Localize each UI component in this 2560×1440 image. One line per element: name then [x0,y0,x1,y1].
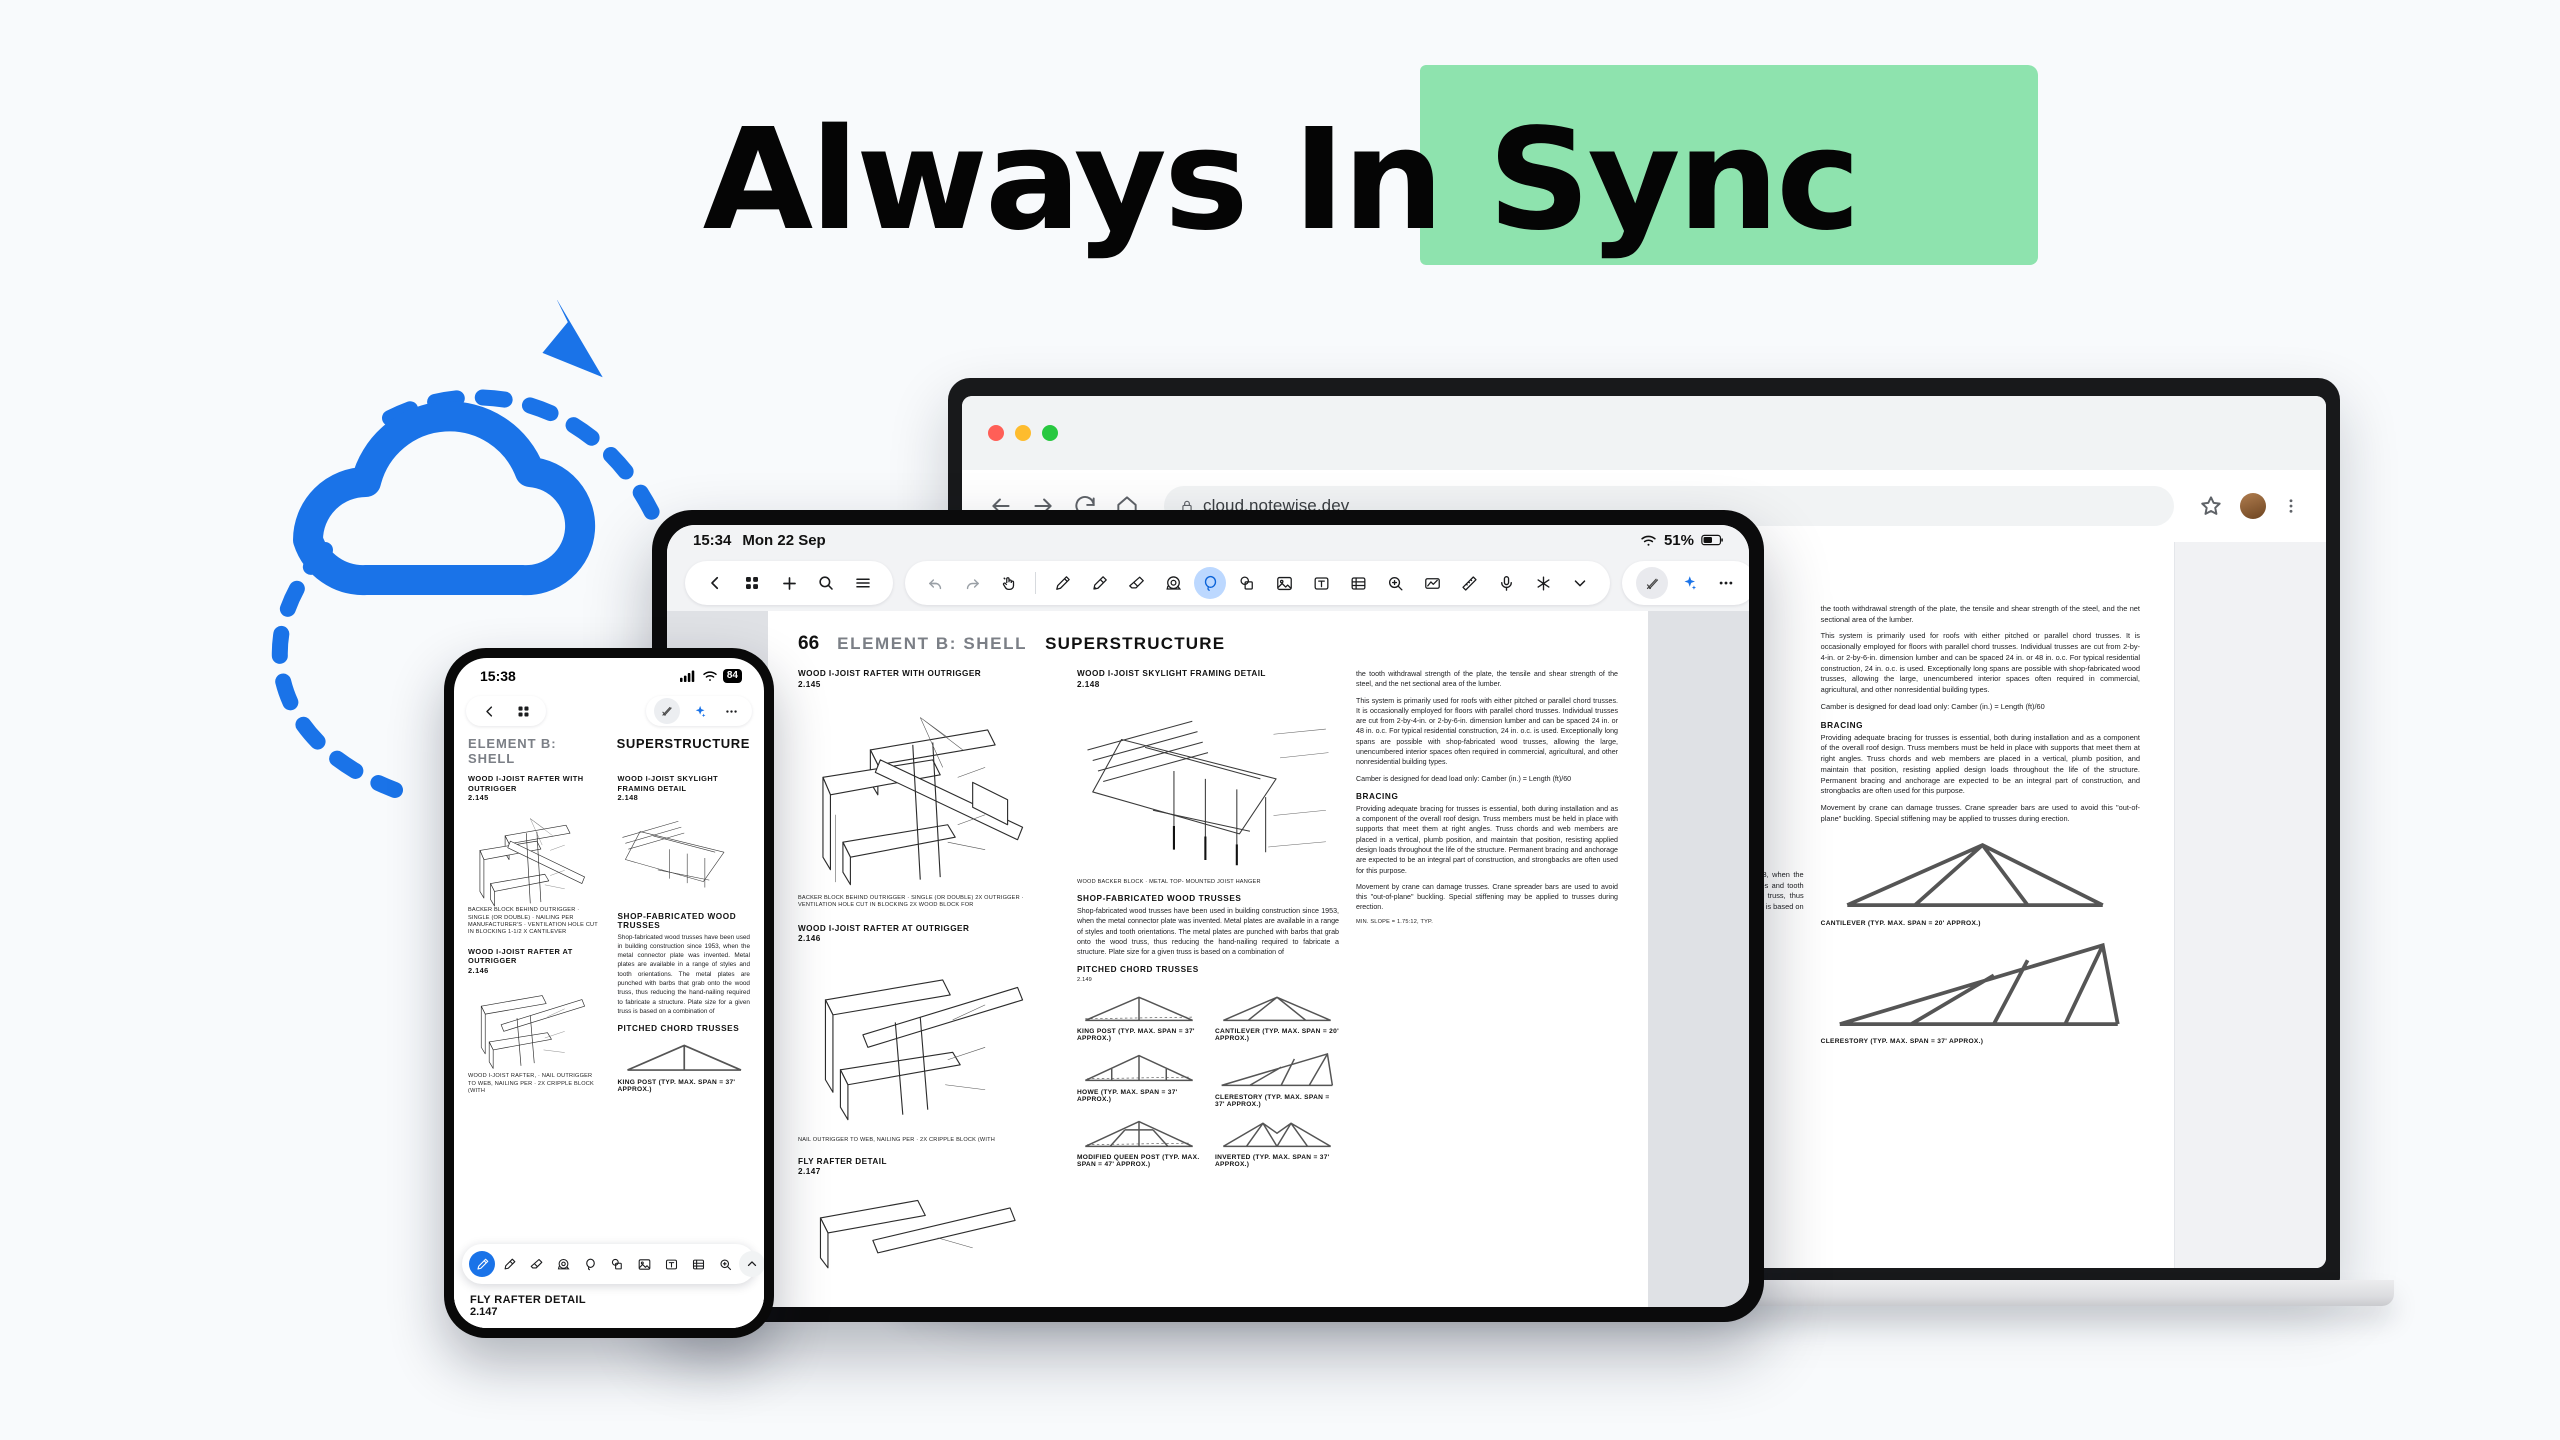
chevron-left-icon [482,704,497,719]
truss-caption: KING POST (TYP. MAX. SPAN = 37' APPROX.) [618,1079,751,1093]
battery-icon [1701,534,1723,546]
snap-star-icon [1534,574,1553,593]
phone-tool-toolbar [462,1244,756,1284]
zoom-in-icon [718,1257,733,1272]
document-page-tablet: 66 ELEMENT B: SHELL SUPERSTRUCTURE WOOD … [768,611,1648,1307]
doc-column-3: the tooth withdrawal strength of the pla… [1356,669,1618,1270]
microphone-icon [1497,574,1516,593]
ai-assist-button[interactable] [1673,567,1705,599]
truss-diagram-cantilever [1215,989,1339,1025]
body-paragraph: Shop-fabricated wood trusses have been u… [618,933,751,1017]
scribble-icon [660,704,674,718]
text-box-icon [1312,574,1331,593]
truss-caption: HOWE (TYP. MAX. SPAN = 37' APPROX.) [1077,1089,1201,1103]
truss-diagram-queen-post [1077,1115,1201,1151]
lasso-tool-button[interactable] [577,1251,603,1277]
shapes-icon [610,1257,625,1272]
pen-tool-button[interactable] [469,1251,495,1277]
figure-title: WOOD I-JOIST SKYLIGHT FRAMING DETAIL [1077,669,1339,680]
highlighter-tool-button[interactable] [1083,567,1115,599]
table-icon [1349,574,1368,593]
window-minimize-button[interactable] [1015,425,1031,441]
body-heading: BRACING [1821,721,2140,730]
eraser-icon [529,1257,544,1272]
figure-drawing-skylight-framing [1077,695,1339,878]
ellipsis-icon [1717,574,1735,592]
figure-number: 2.145 [468,793,601,803]
expand-toolbar-button[interactable] [739,1251,764,1277]
pen-icon [475,1257,490,1272]
page-title: Always In Sync [702,111,1857,251]
pen-icon [1053,574,1072,593]
body-paragraph: Providing adequate bracing for trusses i… [1356,804,1618,876]
document-subsection: SUPERSTRUCTURE [1045,634,1225,654]
document-subsection: SUPERSTRUCTURE [617,736,750,751]
table-tool-button[interactable] [1342,567,1374,599]
eraser-tool-button[interactable] [1120,567,1152,599]
search-icon [817,574,835,592]
shape-tool-button[interactable] [604,1251,630,1277]
zoom-tool-button[interactable] [1379,567,1411,599]
table-tool-button[interactable] [685,1251,711,1277]
phone-screen: 15:38 84 ELEMENT B: SHELL [454,658,764,1328]
figure-number: 2.147 [798,1167,1060,1178]
sparkle-icon [1680,574,1698,592]
plus-icon [780,574,799,593]
tablet-status-bar: 15:34 Mon 22 Sep 51% [667,525,1749,555]
phone-nav-left-pill [466,696,546,726]
tablet-tools-pill [905,561,1610,605]
tape-icon [556,1257,571,1272]
body-heading: SHOP-FABRICATED WOOD TRUSSES [1077,894,1339,903]
figure-labels: WOOD I-JOIST RAFTER, · NAIL OUTRIGGER TO… [468,1073,601,1095]
outline-button[interactable] [847,567,879,599]
figure-number: 2.148 [1077,680,1339,691]
tablet-device: 15:34 Mon 22 Sep 51% [652,510,1764,1322]
figure-labels: WOOD BACKER BLOCK · METAL TOP- MOUNTED J… [1077,879,1339,886]
truss-caption: CANTILEVER (TYP. MAX. SPAN = 20' APPROX.… [1821,920,2140,927]
body-paragraph: Movement by crane can damage trusses. Cr… [1821,803,2140,824]
hand-icon [1000,574,1018,592]
truss-caption: CANTILEVER (TYP. MAX. SPAN = 20' APPROX.… [1215,1028,1339,1042]
tablet-actions-pill [1622,561,1749,605]
truss-caption: MODIFIED QUEEN POST (TYP. MAX. SPAN = 47… [1077,1154,1201,1168]
wifi-icon [702,670,718,682]
back-button[interactable] [699,567,731,599]
truss-caption: KING POST (TYP. MAX. SPAN = 37' APPROX.) [1077,1028,1201,1042]
redo-icon [964,575,981,592]
zoom-tool-button[interactable] [712,1251,738,1277]
tape-tool-button[interactable] [550,1251,576,1277]
figure-labels: NAIL OUTRIGGER TO WEB, NAILING PER · 2X … [798,1137,1060,1144]
chevron-up-icon [745,1257,759,1271]
highlighter-icon [1090,574,1109,593]
table-icon [691,1257,706,1272]
tablet-toolbar-row [667,555,1749,611]
undo-icon [927,575,944,592]
search-button[interactable] [810,567,842,599]
eraser-tool-button[interactable] [523,1251,549,1277]
body-heading: BRACING [1356,792,1618,801]
body-paragraph: This system is primarily used for roofs … [1821,631,2140,695]
audio-record-button[interactable] [1490,567,1522,599]
list-icon [854,574,872,592]
headline-banner: Always In Sync [0,86,2560,276]
figure-title: WOOD I-JOIST RAFTER AT OUTRIGGER [468,947,601,966]
truss-diagram-cantilever [1821,830,2140,916]
figure-drawing-rafter-outrigger [798,695,1060,895]
figure-number: 2.146 [798,934,1060,945]
body-heading: PITCHED CHORD TRUSSES [618,1024,751,1033]
truss-caption: CLERESTORY (TYP. MAX. SPAN = 37' APPROX.… [1215,1094,1339,1108]
image-icon [1275,574,1294,593]
truss-diagram-clerestory [1215,1049,1339,1090]
shapes-icon [1238,574,1257,593]
doc-column-1: WOOD I-JOIST RAFTER WITH OUTRIGGER2.145 [468,774,601,1100]
ruler-tool-button[interactable] [1453,567,1485,599]
shape-tool-button[interactable] [1231,567,1263,599]
toolbar-divider [1035,572,1036,594]
document-header: 66 ELEMENT B: SHELL SUPERSTRUCTURE [798,633,1618,655]
highlighter-icon [502,1257,517,1272]
text-box-icon [664,1257,679,1272]
body-paragraph: Movement by crane can damage trusses. Cr… [1356,882,1618,913]
document-section: ELEMENT B: SHELL [468,736,607,766]
document-section: ELEMENT B: SHELL [837,634,1027,654]
eraser-icon [1127,574,1146,593]
phone-nav-row [454,690,764,732]
truss-section-number: 2.149 [1077,977,1339,984]
figure-title: WOOD I-JOIST RAFTER WITH OUTRIGGER [468,774,601,793]
figure-labels: BACKER BLOCK BEHIND OUTRIGGER · SINGLE (… [798,895,1060,910]
figure-drawing-fly-rafter [798,1183,1060,1270]
figure-number: 2.145 [798,680,1060,691]
chevron-down-icon [1571,574,1589,592]
figure-title: FLY RAFTER DETAIL [470,1294,748,1306]
image-tool-button[interactable] [1268,567,1300,599]
body-paragraph: This system is primarily used for roofs … [1356,696,1618,768]
zoom-in-icon [1386,574,1405,593]
avatar[interactable] [2240,493,2266,519]
wifi-icon [1640,534,1657,547]
body-paragraph: Shop-fabricated wood trusses have been u… [1077,906,1339,957]
more-options-button[interactable] [1710,567,1742,599]
body-heading: SHOP-FABRICATED WOOD TRUSSES [618,912,751,930]
body-paragraph: the tooth withdrawal strength of the pla… [1356,669,1618,690]
graph-tool-button[interactable] [1416,567,1448,599]
lasso-icon [1201,574,1220,593]
truss-diagram-howe [1077,1049,1201,1085]
grid-view-button[interactable] [510,698,536,724]
tablet-nav-pill [685,561,893,605]
tape-tool-button[interactable] [1157,567,1189,599]
phone-status-bar: 15:38 84 [454,658,764,690]
slope-note: MIN. SLOPE = 1.75:12, TYP. [1356,919,1618,926]
phone-document-footer: FLY RAFTER DETAIL 2.147 [454,1294,764,1328]
figure-drawing-skylight-framing [618,808,751,904]
figure-title: FLY RAFTER DETAIL [798,1157,1060,1168]
truss-diagram-clerestory [1821,934,2140,1035]
doc-column-2: WOOD I-JOIST SKYLIGHT FRAMING DETAIL2.14… [618,774,751,1100]
doc-column-1: WOOD I-JOIST RAFTER WITH OUTRIGGER2.145 [798,669,1060,1270]
lasso-tool-button[interactable] [1194,567,1226,599]
body-heading: PITCHED CHORD TRUSSES [1077,965,1339,974]
tablet-document-viewport[interactable]: 66 ELEMENT B: SHELL SUPERSTRUCTURE WOOD … [667,611,1749,1307]
truss-diagram-inverted [1215,1115,1339,1151]
scribble-icon [1644,575,1661,592]
truss-diagram-king-post [1077,989,1201,1025]
figure-title: WOOD I-JOIST RAFTER AT OUTRIGGER [798,924,1060,935]
document-page-phone[interactable]: ELEMENT B: SHELL SUPERSTRUCTURE WOOD I-J… [454,732,764,1328]
add-page-button[interactable] [773,567,805,599]
pen-tool-button[interactable] [1046,567,1078,599]
hand-tool-button[interactable] [993,567,1025,599]
tape-icon [1164,574,1183,593]
status-date: Mon 22 Sep [742,532,825,549]
highlighter-tool-button[interactable] [496,1251,522,1277]
cellular-signal-icon [680,670,697,682]
figure-labels: BACKER BLOCK BEHIND OUTRIGGER · SINGLE (… [468,907,601,937]
doc-column-3: the tooth withdrawal strength of the pla… [1821,604,2140,1142]
figure-title: WOOD I-JOIST SKYLIGHT FRAMING DETAIL [618,774,751,793]
body-paragraph: the tooth withdrawal strength of the pla… [1821,604,2140,625]
body-paragraph: Providing adequate bracing for trusses i… [1821,733,2140,797]
collapse-toolbar-button[interactable] [1564,567,1596,599]
tablet-screen: 15:34 Mon 22 Sep 51% [667,525,1749,1307]
image-icon [637,1257,652,1272]
kebab-menu-icon[interactable] [2282,493,2300,519]
figure-number: 2.147 [470,1306,748,1318]
chevron-left-icon [706,574,724,592]
doc-column-2: WOOD I-JOIST SKYLIGHT FRAMING DETAIL2.14… [1077,669,1339,1270]
text-tool-button[interactable] [658,1251,684,1277]
window-close-button[interactable] [988,425,1004,441]
figure-number: 2.146 [468,966,601,976]
figure-drawing-rafter-at-outrigger [468,981,601,1074]
graph-icon [1423,574,1442,593]
truss-caption: INVERTED (TYP. MAX. SPAN = 37' APPROX.) [1215,1154,1339,1168]
phone-nav-right-pill [646,696,752,726]
figure-drawing-rafter-at-outrigger [798,950,1060,1137]
image-tool-button[interactable] [631,1251,657,1277]
document-header: ELEMENT B: SHELL SUPERSTRUCTURE [468,736,750,766]
redo-button[interactable] [956,567,988,599]
figure-drawing-rafter-outrigger [468,808,601,907]
battery-badge: 84 [723,669,742,683]
browser-tab-strip [962,396,2326,470]
text-tool-button[interactable] [1305,567,1337,599]
body-paragraph: Camber is designed for dead load only: C… [1356,774,1618,784]
grid-icon [516,704,531,719]
truss-caption: CLERESTORY (TYP. MAX. SPAN = 37' APPROX.… [1821,1038,2140,1045]
ai-assist-button[interactable] [686,698,712,724]
battery-percent: 51% [1664,532,1694,549]
phone-device: 15:38 84 ELEMENT B: SHELL [444,648,774,1338]
ruler-icon [1460,574,1479,593]
page-number: 66 [798,633,819,655]
lasso-icon [583,1257,598,1272]
annotate-toggle-button[interactable] [1636,567,1668,599]
figure-title: WOOD I-JOIST RAFTER WITH OUTRIGGER [798,669,1060,680]
grid-icon [743,574,761,592]
more-options-button[interactable] [718,698,744,724]
snap-tool-button[interactable] [1527,567,1559,599]
star-icon[interactable] [2198,493,2224,519]
body-paragraph: Camber is designed for dead load only: C… [1821,702,2140,713]
back-button[interactable] [476,698,502,724]
window-zoom-button[interactable] [1042,425,1058,441]
ellipsis-icon [724,704,739,719]
grid-view-button[interactable] [736,567,768,599]
undo-button[interactable] [919,567,951,599]
truss-diagram-king-post [618,1036,751,1076]
cloud-icon [308,416,580,580]
status-time: 15:38 [480,668,516,684]
sparkle-icon [692,704,707,719]
annotate-toggle-button[interactable] [654,698,680,724]
figure-number: 2.148 [618,793,751,803]
status-time: 15:34 [693,532,731,549]
